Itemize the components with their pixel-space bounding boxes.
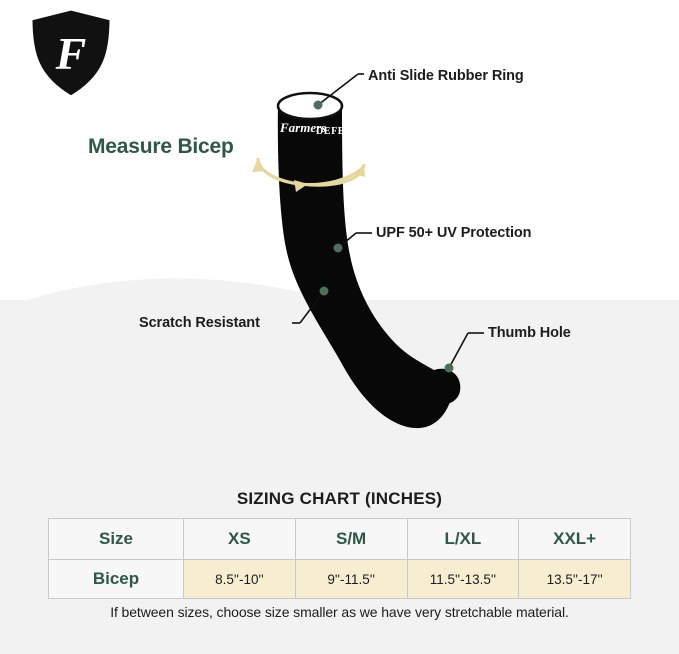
table-header-row: Size XS S/M L/XL XXL+ [49,519,631,560]
header-cell-sm: S/M [295,519,407,560]
sleeve-wordmark-bold: DEFENSE [316,126,366,137]
header-cell-xxl: XXL+ [519,519,631,560]
callout-label-scratch-resistant: Scratch Resistant [139,315,260,331]
cell-bicep-xs: 8.5''-10'' [184,560,296,599]
measure-bicep-label: Measure Bicep [88,135,234,159]
header-cell-xs: XS [184,519,296,560]
sizing-chart-table: Size XS S/M L/XL XXL+ Bicep 8.5''-10'' 9… [48,518,631,599]
header-cell-lxl: L/XL [407,519,519,560]
header-cell-size: Size [49,519,184,560]
farmers-defense-shield-icon: F [27,7,115,99]
logo-letter: F [55,28,87,79]
sizing-chart-title: SIZING CHART (INCHES) [0,489,679,509]
sizing-guide-page: F Farmers DEFENSE Measure Bicep [0,0,679,654]
callout-label-thumb-hole: Thumb Hole [488,325,571,341]
sizing-footnote: If between sizes, choose size smaller as… [0,604,679,620]
cell-bicep-sm: 9''-11.5'' [295,560,407,599]
sleeve-body [278,106,452,428]
cell-bicep-lxl: 11.5''-13.5'' [407,560,519,599]
callout-label-upf-protection: UPF 50+ UV Protection [376,225,531,241]
table-row: Bicep 8.5''-10'' 9''-11.5'' 11.5''-13.5'… [49,560,631,599]
callout-label-anti-slide-rubber-ring: Anti Slide Rubber Ring [368,68,524,84]
row-label-bicep: Bicep [49,560,184,599]
sleeve-cuff-opening [278,93,342,119]
cell-bicep-xxl: 13.5''-17'' [519,560,631,599]
thumb-hole-bump [430,369,461,404]
arm-sleeve-illustration: Farmers DEFENSE [238,78,498,438]
